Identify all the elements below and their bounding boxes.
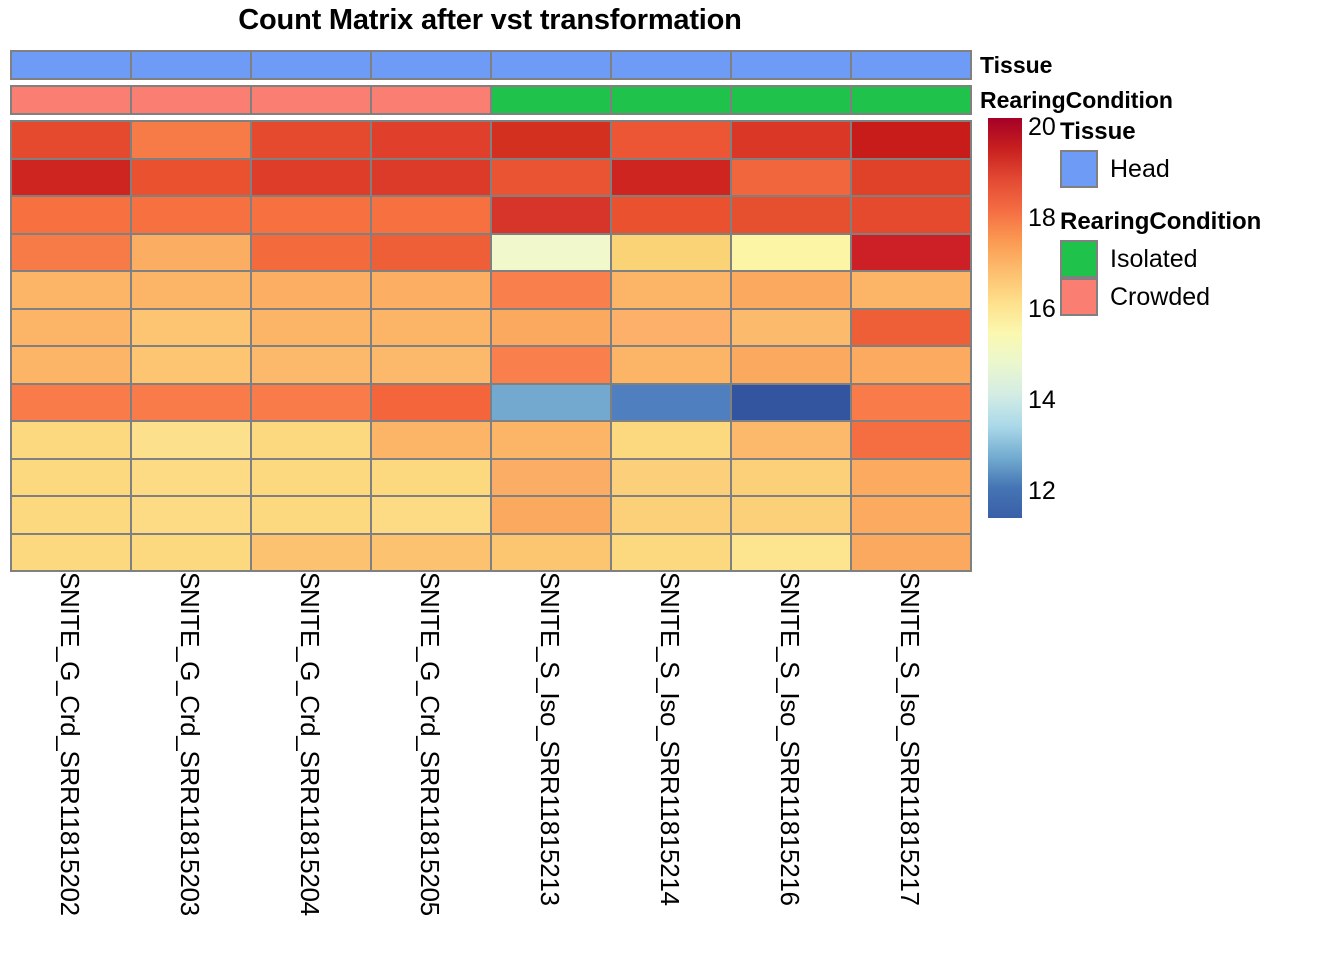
heatmap-cell [370,345,492,385]
heatmap-cell [130,458,252,498]
annotation-cell [610,50,732,80]
heatmap-cell [130,383,252,423]
heatmap-cell [370,383,492,423]
heatmap-cell [610,420,732,460]
heatmap-cell [130,233,252,273]
heatmap-cell [730,383,852,423]
heatmap-cell [730,308,852,348]
legend-title-rearing-condition: RearingCondition [1060,208,1261,236]
column-label: SNITE_G_Crd_SRR11815202 [57,572,83,916]
heatmap-cell [490,495,612,535]
annotation-label-tissue: Tissue [980,50,1052,80]
column-label-slot: SNITE_G_Crd_SRR11815203 [130,572,250,960]
legend-item-label: Crowded [1110,285,1210,310]
heatmap-cell [10,420,132,460]
legend-rearing-condition: RearingCondition IsolatedCrowded [1060,208,1261,316]
column-label: SNITE_S_Iso_SRR11815216 [777,572,803,906]
annotation-cell [490,85,612,115]
heatmap-cell [10,345,132,385]
heatmap-cell [610,495,732,535]
heatmap-cell [130,120,252,160]
annotation-row-rearing-condition [10,85,970,115]
heatmap-cell [10,195,132,235]
annotation-cell [10,85,132,115]
heatmap-cell [130,420,252,460]
annotation-cell [730,85,852,115]
annotation-row-tissue [10,50,970,80]
heatmap-cell [850,233,972,273]
heatmap-cell [730,345,852,385]
legend-item-label: Head [1110,157,1170,182]
heatmap-cell [10,495,132,535]
heatmap-cell [730,495,852,535]
heatmap-cell [130,270,252,310]
heatmap-cell [850,458,972,498]
heatmap-cell [490,270,612,310]
column-label-slot: SNITE_S_Iso_SRR11815217 [850,572,970,960]
annotation-cell [250,85,372,115]
legend-item: Head [1060,150,1170,188]
annotation-cell [130,85,252,115]
heatmap-cell [610,158,732,198]
colorbar-tick-label: 12 [1028,479,1056,504]
heatmap-cell [370,533,492,573]
heatmap-cell [730,120,852,160]
heatmap-cell [250,495,372,535]
heatmap-plot: Count Matrix after vst transformation Ti… [0,0,1344,960]
heatmap-cell [250,420,372,460]
annotation-cell [370,50,492,80]
column-label-axis: SNITE_G_Crd_SRR11815202SNITE_G_Crd_SRR11… [10,572,970,960]
heatmap-cell [730,270,852,310]
column-label: SNITE_S_Iso_SRR11815214 [657,572,683,906]
column-label-slot: SNITE_S_Iso_SRR11815213 [490,572,610,960]
colorbar-gradient [988,118,1022,518]
heatmap-cell [490,233,612,273]
heatmap-cell [130,495,252,535]
colorbar-tick-label: 14 [1028,388,1056,413]
heatmap-cell [610,195,732,235]
heatmap-cell [10,158,132,198]
heatmap-cell [490,383,612,423]
heatmap-cell [730,458,852,498]
column-label-slot: SNITE_S_Iso_SRR11815214 [610,572,730,960]
heatmap-cell [850,120,972,160]
heatmap-cell [730,158,852,198]
heatmap-cell [370,195,492,235]
annotation-cell [10,50,132,80]
heatmap-cell [850,158,972,198]
annotation-cell [490,50,612,80]
legend-title-tissue: Tissue [1060,118,1170,146]
column-label: SNITE_G_Crd_SRR11815203 [177,572,203,916]
annotation-cell [370,85,492,115]
heatmap-cell [370,120,492,160]
heatmap-cell [10,233,132,273]
heatmap-cell [850,383,972,423]
legend-swatch [1060,150,1098,188]
annotation-label-rearing-condition: RearingCondition [980,85,1173,115]
heatmap-cell [610,308,732,348]
heatmap-cell [850,270,972,310]
column-label: SNITE_G_Crd_SRR11815204 [297,572,323,916]
heatmap-cell [250,195,372,235]
legend-item-label: Isolated [1110,247,1198,272]
heatmap-cell [610,533,732,573]
annotation-cell [850,50,972,80]
colorbar: 2018161412 [988,118,1022,518]
annotation-cell [130,50,252,80]
heatmap-cell [490,420,612,460]
heatmap-cell [250,533,372,573]
annotation-cell [730,50,852,80]
column-label-slot: SNITE_G_Crd_SRR11815204 [250,572,370,960]
heatmap-cell [610,345,732,385]
plot-title: Count Matrix after vst transformation [0,2,980,38]
column-label-slot: SNITE_G_Crd_SRR11815205 [370,572,490,960]
heatmap-cell [850,195,972,235]
heatmap-cell [370,270,492,310]
heatmap-cell [730,233,852,273]
colorbar-tick-label: 16 [1028,297,1056,322]
heatmap-cell [130,308,252,348]
heatmap-cell [250,120,372,160]
legend-tissue: Tissue Head [1060,118,1170,188]
heatmap-cell [610,458,732,498]
heatmap-cell [490,195,612,235]
legend-swatch [1060,278,1098,316]
heatmap-cell [10,308,132,348]
heatmap-cell [130,158,252,198]
heatmap-cell [730,195,852,235]
heatmap-cell [850,345,972,385]
heatmap-cell [370,495,492,535]
heatmap-cell [250,345,372,385]
heatmap-cell [10,120,132,160]
heatmap-cell [850,308,972,348]
heatmap-cell [370,458,492,498]
legend-item: Isolated [1060,240,1261,278]
column-label: SNITE_S_Iso_SRR11815217 [897,572,923,906]
heatmap-cell [10,458,132,498]
heatmap-cell [490,345,612,385]
column-label: SNITE_S_Iso_SRR11815213 [537,572,563,906]
heatmap-cell [490,158,612,198]
heatmap-cell [370,158,492,198]
legend-swatch [1060,240,1098,278]
heatmap-cell [250,458,372,498]
heatmap-cell [10,533,132,573]
heatmap-cell [370,233,492,273]
heatmap-cell [250,158,372,198]
colorbar-tick-label: 18 [1028,206,1056,231]
colorbar-tick-label: 20 [1028,115,1056,140]
heatmap-cell [490,308,612,348]
heatmap-cell [850,495,972,535]
heatmap-cell [370,308,492,348]
heatmap-cell [250,233,372,273]
heatmap-cell-grid [10,120,970,570]
heatmap-cell [490,120,612,160]
heatmap-cell [10,383,132,423]
heatmap-cell [610,120,732,160]
heatmap-cell [730,533,852,573]
annotation-cell [610,85,732,115]
heatmap-cell [130,345,252,385]
heatmap-cell [130,195,252,235]
heatmap-cell [250,270,372,310]
heatmap-cell [10,270,132,310]
annotation-cell [850,85,972,115]
annotation-cell [250,50,372,80]
column-label-slot: SNITE_G_Crd_SRR11815202 [10,572,130,960]
heatmap-cell [610,270,732,310]
heatmap-cell [850,420,972,460]
heatmap-cell [130,533,252,573]
heatmap-cell [490,458,612,498]
heatmap-cell [490,533,612,573]
heatmap-cell [730,420,852,460]
heatmap-cell [610,233,732,273]
heatmap-cell [250,383,372,423]
heatmap-cell [370,420,492,460]
column-label-slot: SNITE_S_Iso_SRR11815216 [730,572,850,960]
column-label: SNITE_G_Crd_SRR11815205 [417,572,443,916]
heatmap-cell [850,533,972,573]
legend-item: Crowded [1060,278,1261,316]
heatmap-cell [250,308,372,348]
heatmap-cell [610,383,732,423]
